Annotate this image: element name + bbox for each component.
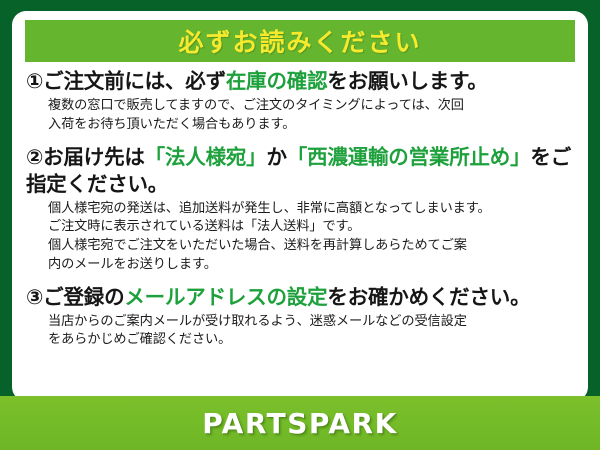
brand-footer: PARTSPARK [0, 396, 600, 450]
item-1-heading-post: をお願いします。 [327, 69, 487, 93]
item-2-heading: ②お届け先は「法人様宛」か「西濃運輸の営業所止め」をご指定ください。 [26, 144, 574, 198]
page-title: 必ずお読みください [178, 23, 421, 59]
item-spacer [26, 277, 574, 284]
item-1-subtext-line-1: 複数の窓口で販売してますので、ご注文のタイミングによっては、次回 [48, 97, 574, 116]
item-2-heading-mid: か [266, 145, 286, 169]
item-3-heading-highlight: メールアドレスの設定 [124, 285, 327, 309]
item-2-marker: ② [26, 145, 43, 169]
item-1-heading-highlight: 在庫の確認 [226, 69, 328, 93]
item-spacer [26, 137, 574, 144]
brand-name: PARTSPARK [202, 407, 398, 440]
item-1-heading: ①ご注文前には、必ず在庫の確認をお願いします。 [26, 68, 574, 95]
item-2-subtext-line-4: 内のメールをお送りします。 [48, 256, 574, 275]
item-2-heading-highlight: 「法人様宛」 [145, 145, 267, 169]
item-2-subtext-line-2: ご注文時に表示されている送料は「法人送料」です。 [48, 218, 574, 237]
title-band: 必ずお読みください [25, 20, 575, 62]
item-2-subtext-line-1: 個人様宅宛の発送は、追加送料が発生し、非常に高額となってしまいます。 [48, 200, 574, 219]
item-3-subtext-line-2: をあらかじめご確認ください。 [48, 331, 574, 350]
item-3-subtext: 当店からのご案内メールが受け取れるよう、迷惑メールなどの受信設定 をあらかじめご… [48, 313, 574, 350]
notice-banner: 必ずお読みください ①ご注文前には、必ず在庫の確認をお願いします。 複数の窓口で… [0, 0, 600, 450]
list-item: ②お届け先は「法人様宛」か「西濃運輸の営業所止め」をご指定ください。 個人様宅宛… [26, 144, 574, 275]
item-3-marker: ③ [26, 285, 43, 309]
item-1-subtext-line-2: 入荷をお待ち頂いただく場合もあります。 [48, 116, 574, 135]
item-3-subtext-line-1: 当店からのご案内メールが受け取れるよう、迷惑メールなどの受信設定 [48, 313, 574, 332]
item-2-heading-pre: お届け先は [43, 145, 145, 169]
item-3-heading: ③ご登録のメールアドレスの設定をお確かめください。 [26, 284, 574, 311]
item-1-subtext: 複数の窓口で販売してますので、ご注文のタイミングによっては、次回 入荷をお待ち頂… [48, 97, 574, 134]
item-3-heading-pre: ご登録の [43, 285, 124, 309]
item-1-marker: ① [26, 69, 43, 93]
item-3-heading-post: をお確かめください。 [327, 285, 530, 309]
notice-items-list: ①ご注文前には、必ず在庫の確認をお願いします。 複数の窓口で販売してますので、ご… [22, 68, 578, 350]
item-1-heading-pre: ご注文前には、必ず [43, 69, 226, 93]
item-2-subtext: 個人様宅宛の発送は、追加送料が発生し、非常に高額となってしまいます。 ご注文時に… [48, 200, 574, 275]
item-2-subtext-line-3: 個人様宅宛でご注文をいただいた場合、送料を再計算しあらためてご案 [48, 237, 574, 256]
notice-card: 必ずお読みください ①ご注文前には、必ず在庫の確認をお願いします。 複数の窓口で… [12, 11, 588, 401]
list-item: ③ご登録のメールアドレスの設定をお確かめください。 当店からのご案内メールが受け… [26, 284, 574, 351]
list-item: ①ご注文前には、必ず在庫の確認をお願いします。 複数の窓口で販売してますので、ご… [26, 68, 574, 135]
item-2-heading-highlight-2: 「西濃運輸の営業所止め」 [287, 145, 531, 169]
